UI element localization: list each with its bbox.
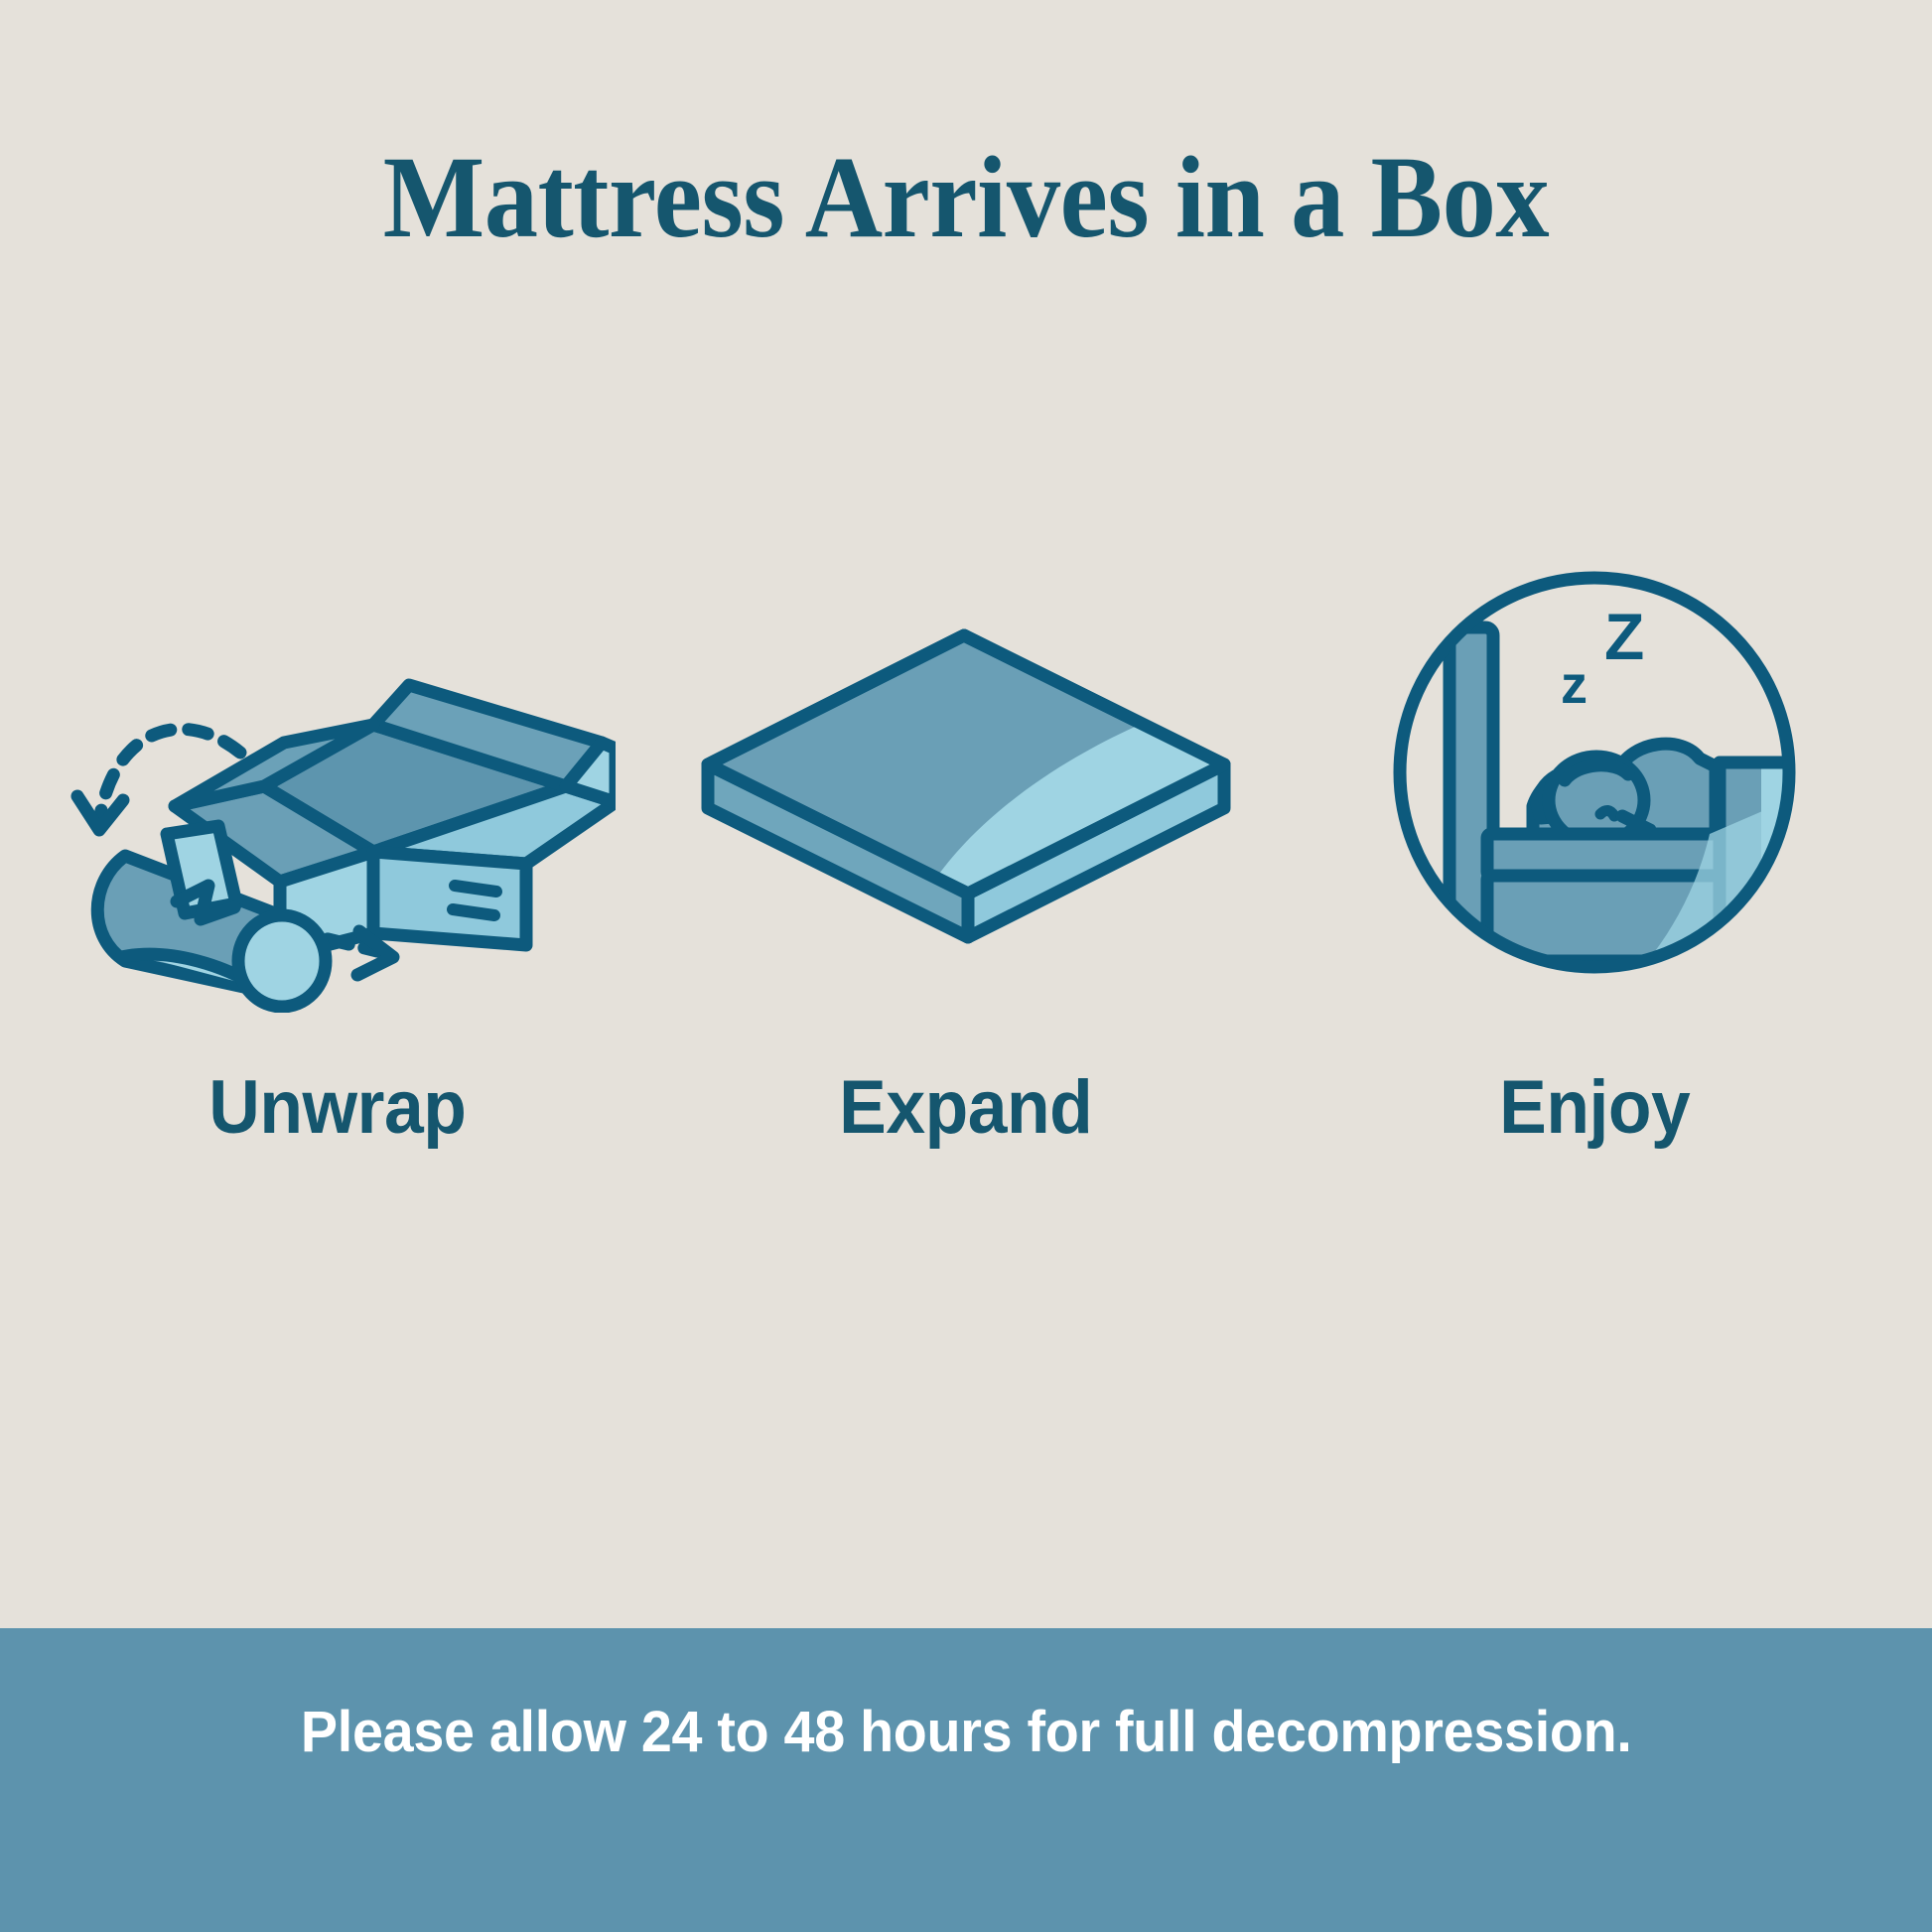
page-title: Mattress Arrives in a Box [77, 139, 1855, 256]
footer-banner: Please allow 24 to 48 hours for full dec… [0, 1628, 1932, 1932]
infographic-page: Mattress Arrives in a Box [0, 0, 1932, 1932]
step-label-enjoy: Enjoy [1499, 1070, 1690, 1146]
flat-mattress-icon [698, 536, 1234, 1013]
box-side-face [373, 852, 526, 945]
unwrap-illustration [60, 496, 616, 1052]
sleep-z-large: Z [1604, 600, 1644, 673]
rolled-mattress-end-cap [238, 915, 326, 1007]
sleeping-person-eye [1600, 810, 1614, 816]
person-sleeping-in-bed-icon: z Z [1366, 536, 1823, 1013]
step-enjoy: z Z Enjoy [1297, 496, 1892, 1146]
decompression-note: Please allow 24 to 48 hours for full dec… [301, 1704, 1632, 1761]
steps-row: Unwrap [0, 496, 1932, 1211]
step-unwrap: Unwrap [40, 496, 635, 1146]
enjoy-illustration: z Z [1316, 496, 1872, 1052]
box-with-rolled-mattress-icon [60, 536, 616, 1013]
step-label-unwrap: Unwrap [208, 1070, 466, 1146]
step-expand: Expand [668, 496, 1264, 1146]
sleep-z-small: z [1561, 655, 1587, 715]
expand-illustration [688, 496, 1244, 1052]
step-label-expand: Expand [839, 1070, 1092, 1146]
